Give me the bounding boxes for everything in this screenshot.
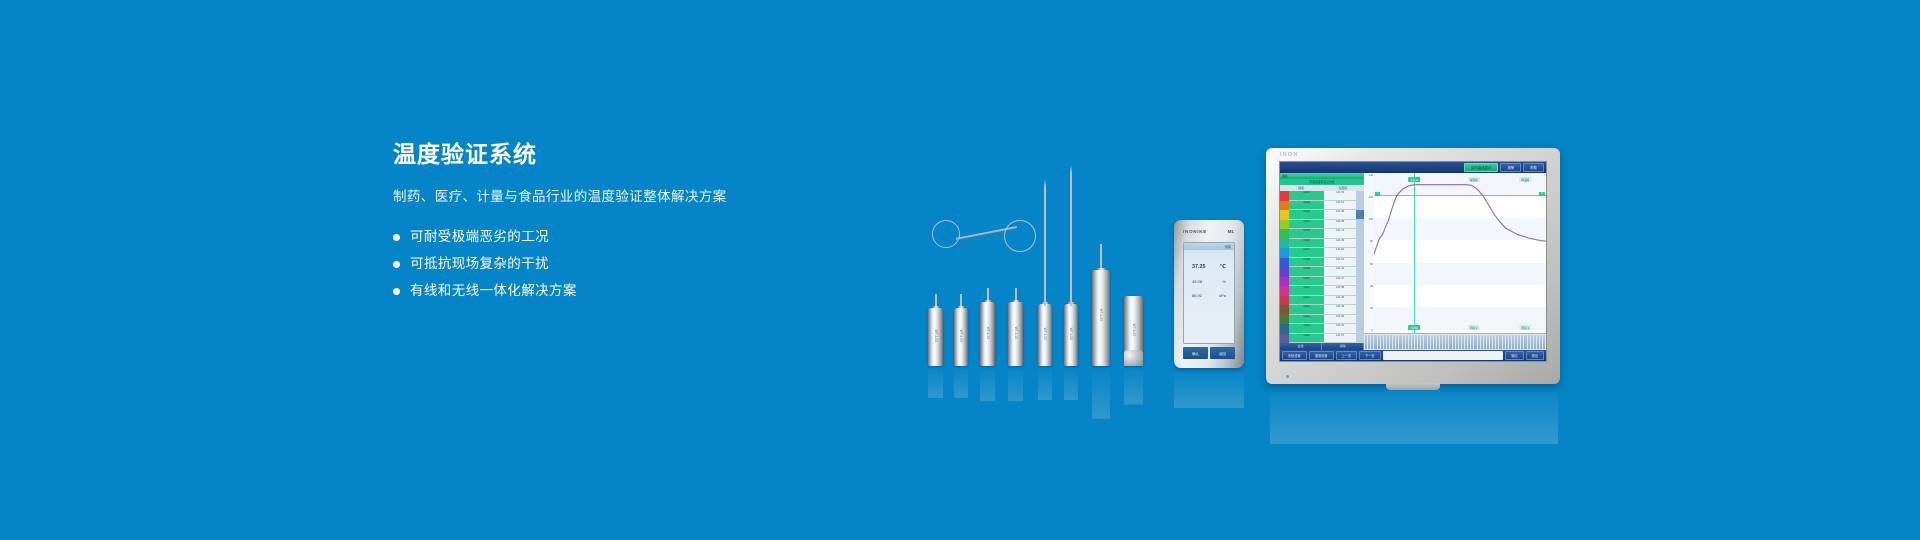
timeline-tick (1499, 335, 1501, 349)
reading-value: 45.08 (1192, 279, 1202, 284)
probe-label: WT-L05 (959, 330, 963, 343)
probe-reflection (1008, 366, 1023, 401)
page-title: 温度验证系统 (393, 140, 813, 168)
software-bottom-toolbar[interactable]: 系统设置 通道设置 上一页 下一页 输出 退出 (1280, 350, 1546, 361)
cell-indicator (1356, 210, 1364, 219)
feature-label: 可抵抗现场复杂的干扰 (410, 255, 549, 273)
cell-channel: CH10 (1289, 277, 1324, 286)
probe-logger: WT-L22 (1064, 304, 1078, 366)
probe-logger: WT-L10 (980, 302, 995, 366)
list-item: 有线和无线一体化解决方案 (393, 282, 813, 300)
exit-button[interactable]: 退出 (1526, 351, 1544, 360)
cell-value: 121.25 (1324, 296, 1356, 305)
timeline-tick (1540, 335, 1542, 349)
handheld-reflection (1174, 368, 1244, 408)
timeline-tick (1399, 335, 1401, 349)
y-tick-label: 120 (1364, 196, 1374, 199)
timeline-tick (1409, 335, 1411, 349)
handheld-titlebar: 测量 (1184, 243, 1234, 250)
channel-table-rows[interactable]: CH01121.34CH02121.51CH03121.46CH04121.28… (1289, 191, 1364, 343)
timeline-tick (1371, 335, 1373, 349)
cell-value: 121.39 (1324, 239, 1356, 248)
cell-indicator (1356, 248, 1364, 257)
cell-channel: CH14 (1289, 315, 1324, 324)
probe-reflection (1092, 366, 1110, 419)
table-row[interactable]: CH07121.52 (1289, 248, 1364, 258)
channel-table[interactable]: 通道 灭菌温度验证记录表 通道 温度值 CH01121.34CH02121.51… (1280, 173, 1364, 350)
channel-color-swatch (1280, 258, 1289, 268)
channel-color-swatch (1280, 201, 1289, 211)
timeline-tick (1543, 335, 1545, 349)
export-button[interactable]: 输出 (1505, 351, 1523, 360)
clear-button[interactable]: 清除 (1322, 343, 1364, 350)
system-settings-button[interactable]: 系统设置 (1282, 351, 1307, 360)
cell-channel: CH05 (1289, 229, 1324, 238)
coil-cable-icon (1004, 220, 1036, 252)
handheld-reading-row: 37.25 ℃ (1184, 264, 1234, 270)
sintered-filter (1124, 350, 1143, 366)
cell-value: 121.49 (1324, 305, 1356, 314)
list-item: 可耐受极端恶劣的工况 (393, 228, 813, 246)
bullet-dot-icon (393, 261, 400, 268)
timeline-tick (1421, 335, 1423, 349)
cell-indicator (1356, 191, 1364, 200)
channel-settings-button[interactable]: 通道设置 (1309, 351, 1334, 360)
probe-label: WT-L22 (1069, 328, 1073, 341)
channel-color-swatch (1280, 248, 1289, 258)
toolbar-button-help[interactable]: 帮助 (1523, 163, 1544, 172)
cell-value: 121.52 (1324, 248, 1356, 257)
power-led-icon (1286, 375, 1289, 378)
timeline-tick (1393, 335, 1395, 349)
y-tick-label: 40 (1364, 285, 1374, 288)
probe-logger: WT-L05 (954, 308, 968, 366)
page-subtitle: 制药、医疗、计量与食品行业的温度验证整体解决方案 (393, 188, 813, 206)
monitor-brand: INON (1280, 152, 1299, 158)
monitor-reflection (1270, 384, 1558, 444)
timeline-tick (1406, 335, 1408, 349)
cell-indicator (1356, 201, 1364, 210)
channel-color-swatch (1280, 220, 1289, 230)
table-row[interactable]: CH04121.28 (1289, 220, 1364, 230)
probe-label: WT-L20 (1043, 328, 1047, 341)
table-row[interactable]: CH09121.44 (1289, 267, 1364, 277)
cell-value: 121.58 (1324, 286, 1356, 295)
probe-logger: WT-L02 (928, 308, 943, 366)
timeline-tick (1446, 335, 1448, 349)
table-row[interactable]: CH12121.25 (1289, 296, 1364, 306)
probe-body: WT-L05 (954, 308, 968, 366)
software-top-toolbar[interactable]: 实时曲线显示 报警 帮助 (1280, 162, 1546, 173)
timeline-tick (1496, 335, 1498, 349)
probe-body: WT-L30 (1092, 270, 1110, 366)
timeline-tick (1374, 335, 1376, 349)
timeline-tick (1434, 335, 1436, 349)
channel-color-swatch (1280, 296, 1289, 306)
timeline-tick (1390, 335, 1392, 349)
channel-color-swatch (1280, 239, 1289, 249)
probe-body: WT-L12 (1008, 302, 1023, 366)
table-row[interactable]: CH02121.51 (1289, 201, 1364, 211)
timeline-tick (1509, 335, 1511, 349)
timeline-tick (1381, 335, 1383, 349)
channel-color-swatch (1280, 315, 1289, 325)
timeline-tick (1484, 335, 1486, 349)
timeline-ticks (1364, 334, 1546, 350)
cell-value: 121.28 (1324, 220, 1356, 229)
channel-color-swatch (1280, 305, 1289, 315)
table-row[interactable]: CH13121.49 (1289, 305, 1364, 315)
bullet-dot-icon (393, 234, 400, 241)
handheld-screen: 测量 37.25 ℃ 45.08 % 86.92 kPa (1183, 242, 1235, 344)
reading-value: 86.92 (1192, 293, 1202, 298)
cell-indicator (1356, 315, 1364, 324)
cell-channel: CH06 (1289, 239, 1324, 248)
handheld-model: M1 (1228, 229, 1234, 234)
hero-banner: 温度验证系统 制药、医疗、计量与食品行业的温度验证整体解决方案 可耐受极端恶劣的… (0, 0, 1920, 540)
timeline-tick (1403, 335, 1405, 349)
cell-indicator (1356, 267, 1364, 276)
cell-value: 121.34 (1324, 191, 1356, 200)
probe-label: WT-L02 (934, 330, 938, 343)
table-row[interactable]: CH11121.58 (1289, 286, 1364, 296)
probe-body: WT-L10 (980, 302, 995, 366)
cell-value: 121.31 (1324, 324, 1356, 333)
reading-unit: ℃ (1219, 264, 1226, 270)
timeline-tick (1365, 335, 1367, 349)
cell-channel: CH16 (1289, 334, 1324, 343)
chart-plot[interactable]: L H 光标 A 时间轴 保温段 降温段 阶段 2 阶段 3 (1374, 173, 1546, 333)
chart-y-axis: 140120100806040200 (1364, 173, 1374, 333)
reading-unit: kPa (1219, 293, 1226, 298)
handheld-reader[interactable]: INONIKE M1 测量 37.25 ℃ 45.08 % 86.92 kPa (1174, 220, 1244, 368)
cell-value: 121.37 (1324, 277, 1356, 286)
cell-value: 121.44 (1324, 267, 1356, 276)
cell-channel: CH07 (1289, 248, 1324, 257)
table-row[interactable]: CH16121.57 (1289, 334, 1364, 344)
timeline-tick (1503, 335, 1505, 349)
cell-indicator (1356, 277, 1364, 286)
timeline-tick (1415, 335, 1417, 349)
timeline-tick (1449, 335, 1451, 349)
cell-channel: CH04 (1289, 220, 1324, 229)
y-tick-label: 20 (1364, 307, 1374, 310)
temperature-curve (1374, 173, 1546, 259)
feature-label: 有线和无线一体化解决方案 (410, 282, 577, 300)
timeline-tick (1487, 335, 1489, 349)
probe-stem (1100, 244, 1102, 270)
channel-color-swatch (1280, 334, 1289, 344)
channel-color-swatch (1280, 277, 1289, 287)
timeline-tick (1490, 335, 1492, 349)
probe-body: WT-L40 (1124, 296, 1143, 366)
table-row[interactable]: CH05121.73 (1289, 229, 1364, 239)
timeline-tick (1384, 335, 1386, 349)
cell-indicator (1356, 305, 1364, 314)
cell-indicator (1356, 286, 1364, 295)
cell-indicator (1356, 229, 1364, 238)
probe-reflection (1038, 366, 1052, 400)
table-row[interactable]: CH03121.46 (1289, 210, 1364, 220)
chart-area: 140120100806040200 L H 光标 A (1364, 173, 1546, 333)
probe-label: WT-L10 (986, 326, 990, 339)
timeline-tick (1524, 335, 1526, 349)
timeline-tick (1512, 335, 1514, 349)
cell-channel: CH09 (1289, 267, 1324, 276)
cell-value: 121.46 (1324, 210, 1356, 219)
channel-color-swatch (1280, 286, 1289, 296)
timeline-tick (1506, 335, 1508, 349)
cell-value: 121.73 (1324, 229, 1356, 238)
toolbar-button-alarm[interactable]: 报警 (1500, 163, 1521, 172)
cell-channel: CH15 (1289, 324, 1324, 333)
channel-color-swatch (1280, 191, 1289, 201)
banner-copy: 温度验证系统 制药、医疗、计量与食品行业的温度验证整体解决方案 可耐受极端恶劣的… (393, 140, 813, 309)
probe-logger: WT-L30 (1092, 270, 1110, 366)
handheld-reading-row: 45.08 % (1184, 279, 1234, 284)
timeline-scrollbar[interactable] (1364, 333, 1546, 350)
timeline-tick (1378, 335, 1380, 349)
timeline-tick (1493, 335, 1495, 349)
handheld-screen-title: 测量 (1225, 244, 1231, 249)
cell-indicator (1356, 334, 1364, 343)
probe-label: WT-L30 (1099, 309, 1103, 322)
reading-value: 37.25 (1192, 264, 1206, 270)
cell-channel: CH03 (1289, 210, 1324, 219)
cell-channel: CH02 (1289, 201, 1324, 210)
handheld-brand: INONIKE (1183, 229, 1207, 234)
timeline-tick (1396, 335, 1398, 349)
coil-cable-icon (932, 220, 960, 248)
table-row[interactable]: CH06121.39 (1289, 239, 1364, 249)
cursor-bottom-tag[interactable]: 时间轴 (1408, 325, 1420, 330)
y-tick-label: 60 (1364, 263, 1374, 266)
probe-logger: WT-L12 (1008, 302, 1023, 366)
monitor-screen: 实时曲线显示 报警 帮助 通道 灭菌温度验证记录表 通道 温度值 (1279, 161, 1547, 362)
needle-probe (1070, 174, 1072, 306)
timeline-tick (1412, 335, 1414, 349)
cell-channel: CH13 (1289, 305, 1324, 314)
table-row[interactable]: CH08121.61 (1289, 258, 1364, 268)
timeline-tick (1528, 335, 1530, 349)
timeline-tick (1468, 335, 1470, 349)
timeline-tick (1418, 335, 1420, 349)
probe-reflection (1064, 366, 1078, 400)
table-row[interactable]: CH15121.31 (1289, 324, 1364, 334)
channel-table-scroll[interactable]: CH01121.34CH02121.51CH03121.46CH04121.28… (1280, 191, 1364, 343)
toolbar-spacer (1383, 351, 1504, 360)
timeline-tick (1437, 335, 1439, 349)
annotation-stage-2: 阶段 2 (1468, 325, 1479, 330)
probe-label: WT-L12 (1014, 326, 1018, 339)
prev-page-button[interactable]: 上一页 (1336, 351, 1358, 360)
cell-channel: CH08 (1289, 258, 1324, 267)
feature-label: 可耐受极端恶劣的工况 (410, 228, 549, 246)
probe-body: WT-L22 (1064, 304, 1078, 366)
channel-color-swatch (1280, 267, 1289, 277)
y-tick-label: 0 (1364, 329, 1374, 332)
timeline-tick (1443, 335, 1445, 349)
channel-table-footer[interactable]: 全选 清除 (1280, 343, 1364, 350)
handheld-back-button[interactable]: 返回 (1210, 347, 1235, 359)
probe-label: WT-L40 (1132, 323, 1136, 336)
channel-color-swatch (1280, 229, 1289, 239)
software-body: 通道 灭菌温度验证记录表 通道 温度值 CH01121.34CH02121.51… (1280, 173, 1546, 350)
timeline-tick (1428, 335, 1430, 349)
timeline-tick (1534, 335, 1536, 349)
timeline-tick (1478, 335, 1480, 349)
next-page-button[interactable]: 下一页 (1359, 351, 1381, 360)
y-tick-label: 80 (1364, 240, 1374, 243)
annotation-stage-3: 阶段 3 (1520, 325, 1531, 330)
probe-reflection (1124, 366, 1143, 405)
timeline-tick (1474, 335, 1476, 349)
select-all-button[interactable]: 全选 (1280, 343, 1322, 350)
cell-value: 121.61 (1324, 258, 1356, 267)
timeline-tick (1440, 335, 1442, 349)
handheld-reading-row: 86.92 kPa (1184, 293, 1234, 298)
timeline-tick (1387, 335, 1389, 349)
timeline-tick (1462, 335, 1464, 349)
handheld-keypad[interactable]: 确认 返回 (1183, 347, 1235, 359)
y-tick-label: 100 (1364, 218, 1374, 221)
channel-color-swatch (1280, 324, 1289, 334)
toolbar-button-realtime-curve[interactable]: 实时曲线显示 (1464, 163, 1498, 172)
cell-value: 121.57 (1324, 334, 1356, 343)
cell-channel: CH12 (1289, 296, 1324, 305)
cell-value: 121.66 (1324, 315, 1356, 324)
timeline-tick (1459, 335, 1461, 349)
probe-body: WT-L02 (928, 308, 943, 366)
table-row[interactable]: CH14121.66 (1289, 315, 1364, 325)
timeline-tick (1465, 335, 1467, 349)
cell-indicator (1356, 296, 1364, 305)
timeline-tick (1481, 335, 1483, 349)
needle-probe (1044, 188, 1046, 306)
probe-logger: WT-L40 (1124, 296, 1143, 366)
timeline-tick (1518, 335, 1520, 349)
probe-reflection (980, 366, 995, 401)
list-item: 可抵抗现场复杂的干扰 (393, 255, 813, 273)
table-row[interactable]: CH10121.37 (1289, 277, 1364, 287)
cell-channel: CH01 (1289, 191, 1324, 200)
channel-color-swatch (1280, 210, 1289, 220)
table-row[interactable]: CH01121.34 (1289, 191, 1364, 201)
bullet-dot-icon (393, 288, 400, 295)
probe-logger: WT-L20 (1038, 304, 1052, 366)
probe-body: WT-L20 (1038, 304, 1052, 366)
timeline-tick (1515, 335, 1517, 349)
timeline-tick (1431, 335, 1433, 349)
chart-panel: 140120100806040200 L H 光标 A (1364, 173, 1546, 350)
cell-indicator (1356, 239, 1364, 248)
feature-list: 可耐受极端恶劣的工况 可抵抗现场复杂的干扰 有线和无线一体化解决方案 (393, 228, 813, 300)
probe-reflection (928, 366, 943, 398)
cell-value: 121.51 (1324, 201, 1356, 210)
cell-indicator (1356, 220, 1364, 229)
reading-unit: % (1222, 279, 1226, 284)
timeline-tick (1521, 335, 1523, 349)
product-photo-group: WT-L02WT-L05WT-L10WT-L12WT-L20WT-L22WT-L… (928, 118, 1560, 418)
timeline-tick (1453, 335, 1455, 349)
cell-channel: CH11 (1289, 286, 1324, 295)
handheld-confirm-button[interactable]: 确认 (1183, 347, 1208, 359)
cell-indicator (1356, 258, 1364, 267)
cell-indicator (1356, 324, 1364, 333)
probe-reflection (954, 366, 968, 398)
timeline-tick (1424, 335, 1426, 349)
timeline-tick (1537, 335, 1539, 349)
timeline-tick (1471, 335, 1473, 349)
timeline-tick (1456, 335, 1458, 349)
timeline-tick (1368, 335, 1370, 349)
channel-color-legend (1280, 191, 1289, 343)
y-tick-label: 140 (1364, 174, 1374, 177)
panel-monitor: INON 实时曲线显示 报警 帮助 通道 灭菌温度验证记录表 (1266, 148, 1560, 384)
timeline-tick (1531, 335, 1533, 349)
